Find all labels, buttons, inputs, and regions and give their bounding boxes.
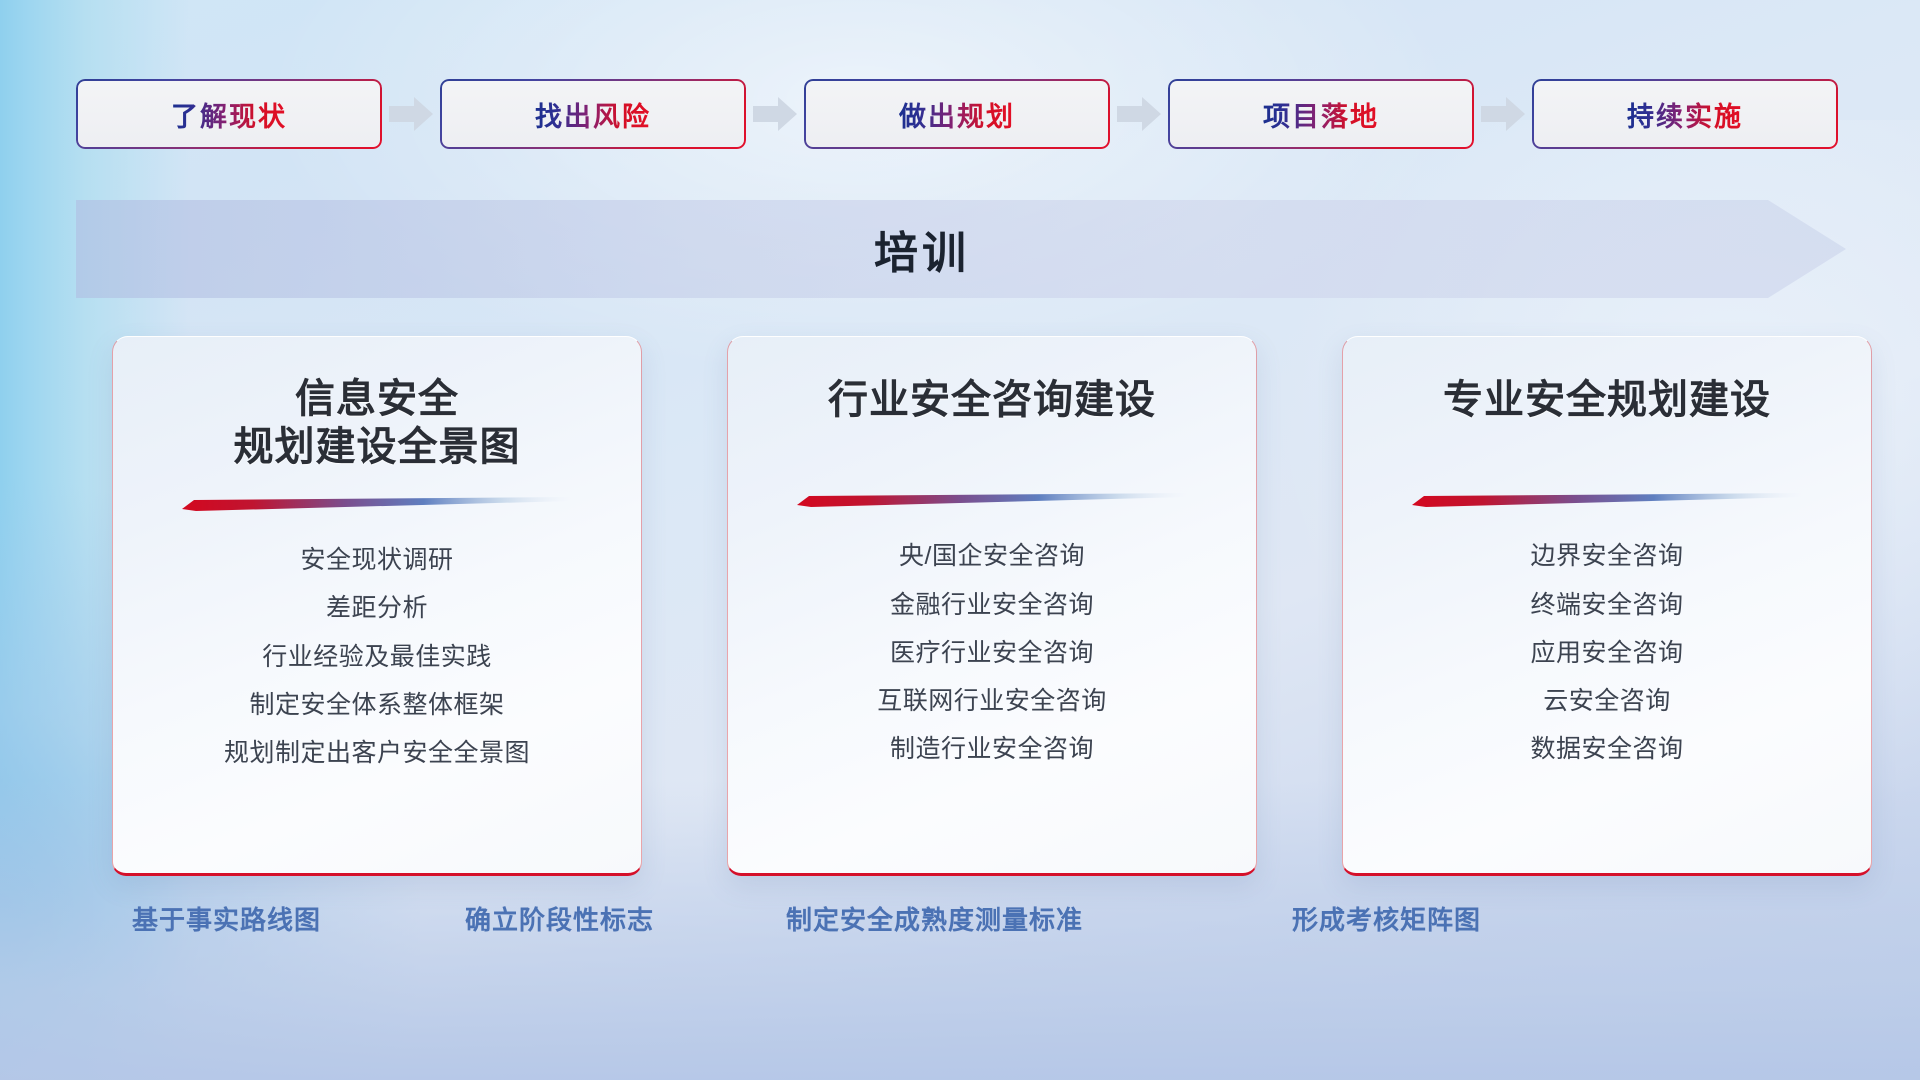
list-item: 应用安全咨询 [1530,638,1683,669]
footer-label-4: 形成考核矩阵图 [1292,900,1481,937]
step-label-2: 找出风险 [535,95,651,134]
footer-label-1: 基于事实路线图 [132,900,321,937]
footer-label-2: 确立阶段性标志 [465,900,654,937]
step-arrow-icon-3 [1110,78,1168,150]
training-banner-title: 培训 [76,200,1846,298]
card-title-line-1: 信息安全 [234,375,521,423]
list-item: 差距分析 [326,593,428,624]
card-professional-security-planning[interactable]: 专业安全规划建设 [1342,336,1872,876]
step-arrow-icon-1 [382,78,440,150]
process-step-row: 了解现状 找出风险 做出规划 项目落地 [76,78,1844,150]
list-item: 终端安全咨询 [1530,590,1683,621]
step-arrow-icon-4 [1474,78,1532,150]
list-item: 规划制定出客户安全全景图 [224,738,530,769]
list-item: 数据安全咨询 [1530,734,1683,765]
list-item: 制造行业安全咨询 [890,734,1094,765]
step-box-5[interactable]: 持续实施 [1532,79,1838,149]
card-content: 行业安全咨询建设 [728,337,1256,873]
step-label-3: 做出规划 [899,95,1015,134]
card-information-security-panorama[interactable]: 信息安全 规划建设全景图 [112,336,642,876]
list-item: 安全现状调研 [300,545,453,576]
card-title-line-2: 规划建设全景图 [234,423,521,471]
step-box-4[interactable]: 项目落地 [1168,79,1474,149]
list-item: 云安全咨询 [1543,686,1671,717]
list-item: 边界安全咨询 [1530,541,1683,572]
step-box-2[interactable]: 找出风险 [440,79,746,149]
list-item: 行业经验及最佳实践 [262,642,492,673]
step-box-3[interactable]: 做出规划 [804,79,1110,149]
card-row: 信息安全 规划建设全景图 [112,336,1872,876]
step-box-1[interactable]: 了解现状 [76,79,382,149]
card-industry-security-consulting[interactable]: 行业安全咨询建设 [727,336,1257,876]
list-item: 互联网行业安全咨询 [877,686,1107,717]
card-title: 信息安全 规划建设全景图 [234,375,521,471]
card-accent-line [182,497,572,511]
step-label-5: 持续实施 [1627,95,1743,134]
list-item: 制定安全体系整体框架 [249,690,504,721]
card-content: 专业安全规划建设 [1343,337,1871,873]
card-title-line-1: 行业安全咨询建设 [828,375,1156,425]
step-label-1: 了解现状 [171,95,287,134]
list-item: 金融行业安全咨询 [890,590,1094,621]
step-arrow-icon-2 [746,78,804,150]
footer-label-row: 基于事实路线图 确立阶段性标志 制定安全成熟度测量标准 形成考核矩阵图 [0,900,1920,960]
card-title: 专业安全规划建设 [1443,375,1771,425]
list-item: 央/国企安全咨询 [899,541,1085,572]
footer-label-3: 制定安全成熟度测量标准 [786,900,1083,937]
training-banner: 培训 [76,200,1846,298]
card-item-list: 央/国企安全咨询 金融行业安全咨询 医疗行业安全咨询 互联网行业安全咨询 制造行… [877,541,1107,765]
card-title: 行业安全咨询建设 [828,375,1156,425]
step-label-4: 项目落地 [1263,95,1379,134]
card-item-list: 安全现状调研 差距分析 行业经验及最佳实践 制定安全体系整体框架 规划制定出客户… [224,545,530,769]
list-item: 医疗行业安全咨询 [890,638,1094,669]
card-accent-line [797,493,1187,507]
card-content: 信息安全 规划建设全景图 [113,337,641,873]
card-title-line-1: 专业安全规划建设 [1443,375,1771,425]
card-accent-line [1412,493,1802,507]
card-item-list: 边界安全咨询 终端安全咨询 应用安全咨询 云安全咨询 数据安全咨询 [1530,541,1683,765]
slide-stage: 了解现状 找出风险 做出规划 项目落地 [0,0,1920,1080]
